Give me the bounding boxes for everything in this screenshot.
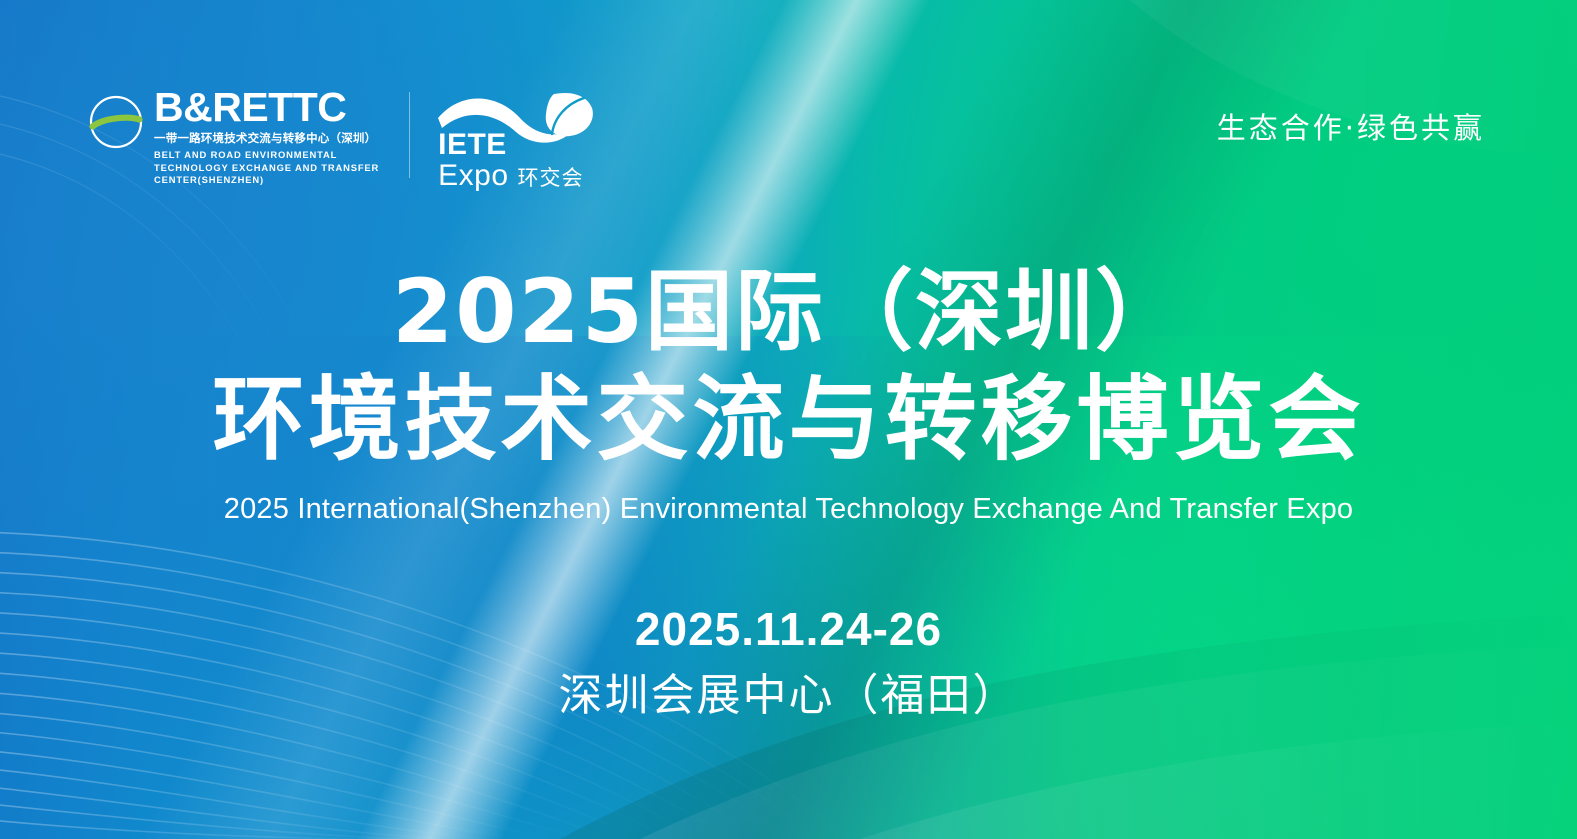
brettc-english-line2: TECHNOLOGY EXCHANGE AND TRANSFER <box>154 162 379 175</box>
brettc-chinese-name: 一带一路环境技术交流与转移中心（深圳） <box>154 131 379 147</box>
brettc-english-line1: BELT AND ROAD ENVIRONMENTAL <box>154 149 379 162</box>
event-venue: 深圳会展中心（福田） <box>0 668 1577 723</box>
banner-header: B&RETTC 一带一路环境技术交流与转移中心（深圳） BELT AND ROA… <box>0 0 1577 210</box>
brettc-english-name: BELT AND ROAD ENVIRONMENTAL TECHNOLOGY E… <box>154 149 379 187</box>
iete-wordmark: IETE Expo 环交会 <box>438 130 583 192</box>
brettc-wordmark: B&RETTC <box>154 88 379 127</box>
title-line-1: 2025国际（深圳） <box>0 268 1577 356</box>
iete-line2: Expo <box>438 161 508 191</box>
logo-group: B&RETTC 一带一路环境技术交流与转移中心（深圳） BELT AND ROA… <box>88 88 601 193</box>
event-date: 2025.11.24-26 <box>0 606 1577 652</box>
brettc-english-line3: CENTER(SHENZHEN) <box>154 174 379 187</box>
iete-line1: IETE <box>438 130 583 160</box>
header-tagline: 生态合作·绿色共赢 <box>1217 105 1485 147</box>
logo-divider <box>409 92 410 178</box>
expo-banner: B&RETTC 一带一路环境技术交流与转移中心（深圳） BELT AND ROA… <box>0 0 1577 839</box>
globe-circle-icon <box>88 94 144 150</box>
logo-iete-expo[interactable]: IETE Expo 环交会 <box>436 88 601 193</box>
title-line-2: 环境技术交流与转移博览会 <box>0 374 1577 466</box>
iete-chinese: 环交会 <box>518 162 584 192</box>
english-subtitle: 2025 International(Shenzhen) Environment… <box>0 492 1577 527</box>
logo-brettc[interactable]: B&RETTC 一带一路环境技术交流与转移中心（深圳） BELT AND ROA… <box>88 88 379 187</box>
